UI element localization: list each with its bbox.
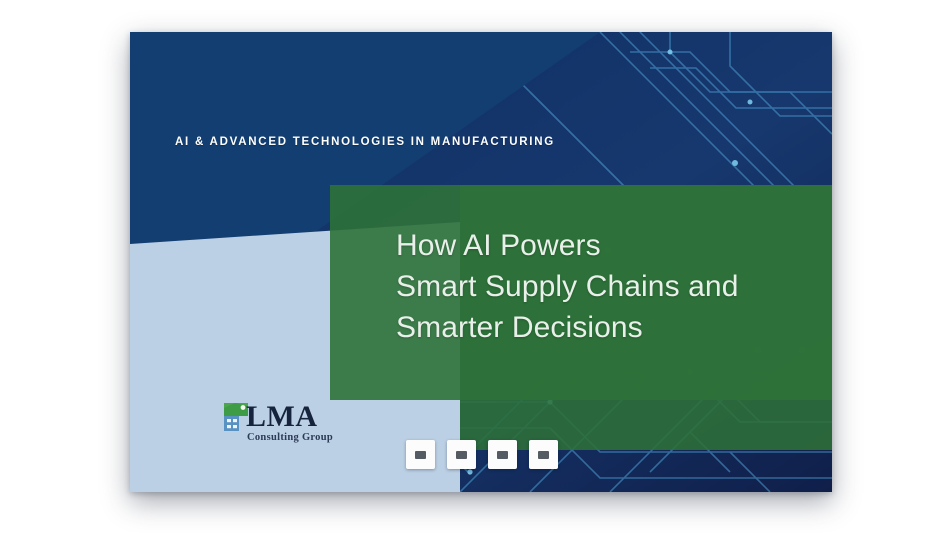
headline-line-1: How AI Powers bbox=[396, 225, 796, 266]
slide-eyebrow: AI & ADVANCED TECHNOLOGIES IN MANUFACTUR… bbox=[175, 136, 555, 148]
lma-logo-tagline: Consulting Group bbox=[247, 432, 333, 443]
lma-logo[interactable]: LMA Consulting Group bbox=[223, 400, 353, 452]
page-stage: AI & ADVANCED TECHNOLOGIES IN MANUFACTUR… bbox=[0, 0, 948, 533]
square-glyph-icon bbox=[415, 451, 426, 459]
lma-logo-wordmark: LMA bbox=[246, 402, 318, 432]
square-glyph-icon bbox=[456, 451, 467, 459]
carousel-pager bbox=[406, 440, 558, 469]
square-glyph-icon bbox=[497, 451, 508, 459]
slide-card[interactable]: AI & ADVANCED TECHNOLOGIES IN MANUFACTUR… bbox=[130, 32, 832, 492]
pager-button-1[interactable] bbox=[406, 440, 435, 469]
headline-line-2: Smart Supply Chains and bbox=[396, 266, 796, 307]
pager-button-2[interactable] bbox=[447, 440, 476, 469]
headline-line-3: Smarter Decisions bbox=[396, 307, 796, 348]
slide-headline: How AI Powers Smart Supply Chains and Sm… bbox=[396, 225, 796, 348]
pager-button-4[interactable] bbox=[529, 440, 558, 469]
square-glyph-icon bbox=[538, 451, 549, 459]
pager-button-3[interactable] bbox=[488, 440, 517, 469]
